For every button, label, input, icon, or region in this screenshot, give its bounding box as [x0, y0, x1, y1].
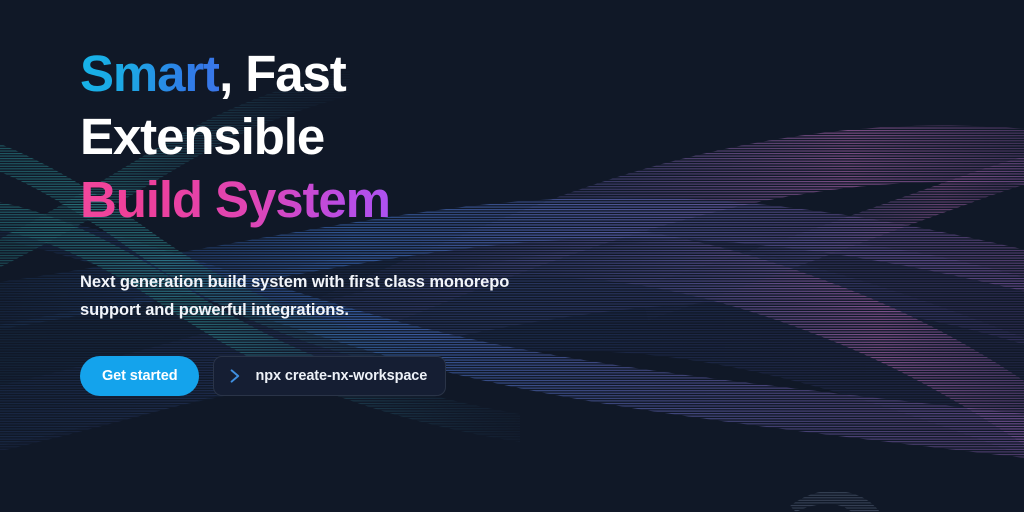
copy-command-button[interactable]: npx create-nx-workspace	[213, 356, 446, 396]
cta-button-row: Get started npx create-nx-workspace	[80, 356, 446, 396]
page-title: Smart, Fast Extensible Build System	[80, 42, 390, 231]
headline-line-1: Smart, Fast	[80, 42, 390, 105]
get-started-button[interactable]: Get started	[80, 356, 199, 396]
headline-comma: ,	[219, 45, 232, 102]
hero-content: Smart, Fast Extensible Build System Next…	[80, 0, 700, 512]
headline-line-2: Extensible	[80, 105, 390, 168]
headline-line-3: Build System	[80, 168, 390, 231]
chevron-right-prompt-icon	[230, 369, 241, 383]
headline-accent-build-system: Build System	[80, 171, 390, 228]
headline-word-fast: Fast	[232, 45, 346, 102]
terminal-command-text: npx create-nx-workspace	[255, 368, 427, 384]
hero-section: Smart, Fast Extensible Build System Next…	[0, 0, 1024, 512]
hero-subtitle: Next generation build system with first …	[80, 268, 550, 324]
headline-accent-smart: Smart	[80, 45, 219, 102]
